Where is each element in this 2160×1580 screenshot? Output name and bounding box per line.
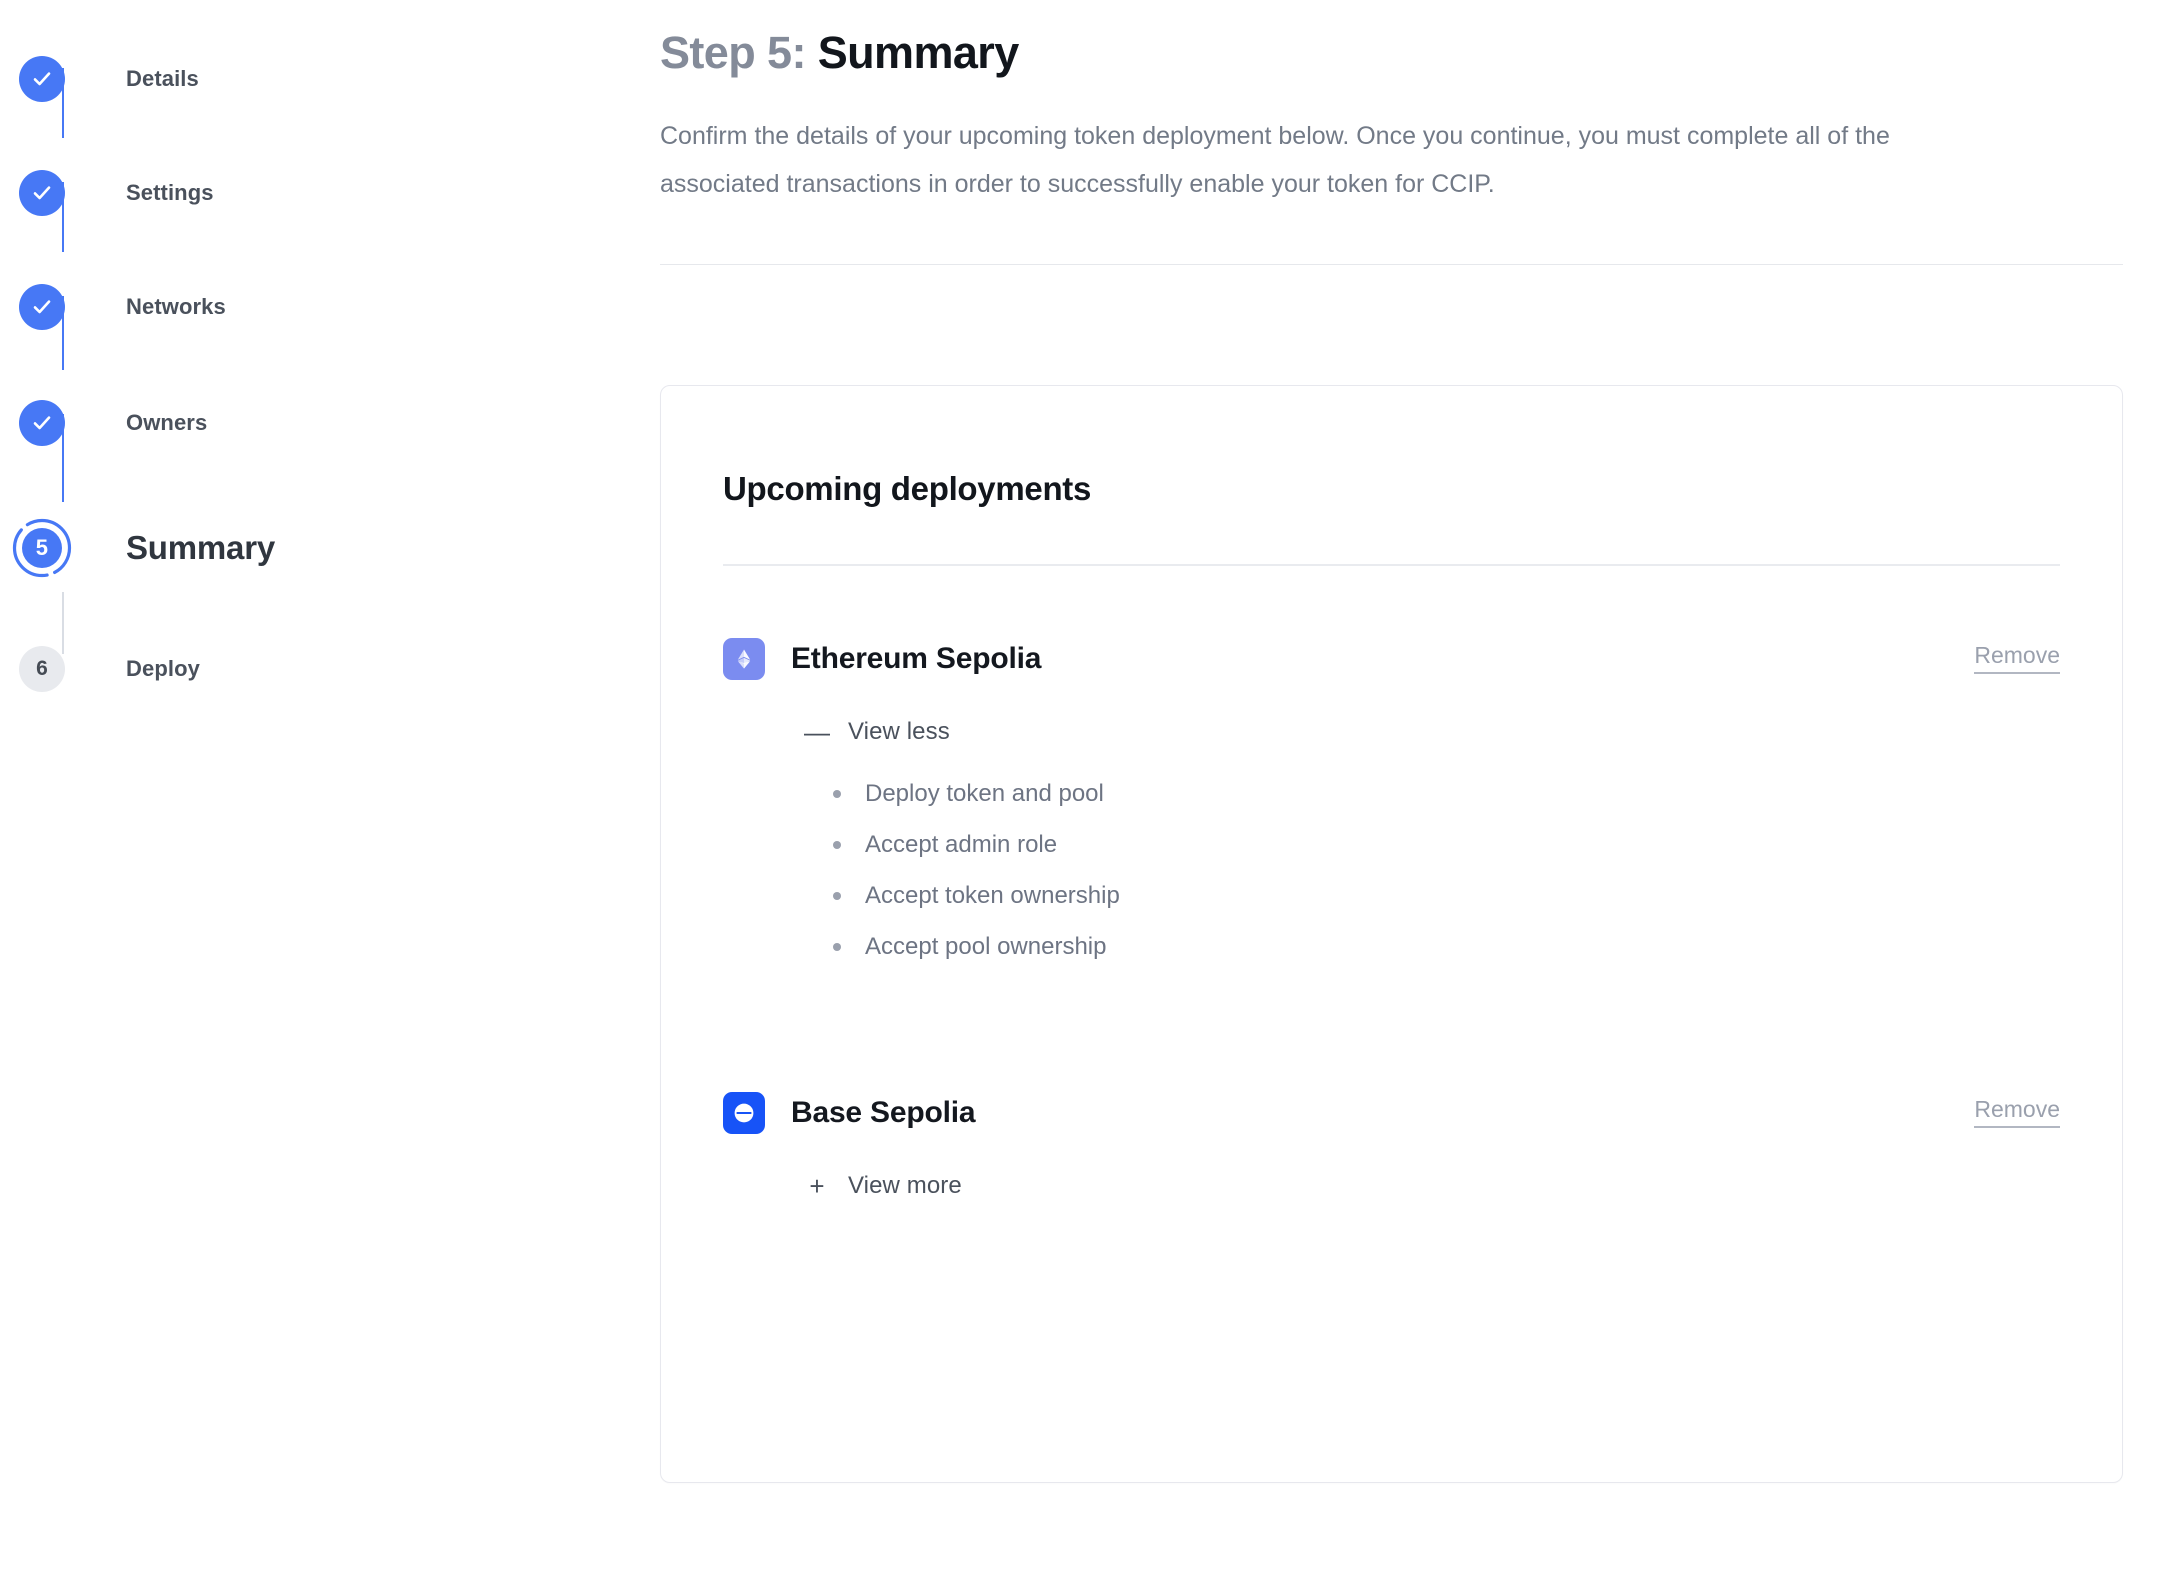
sidebar-item-label: Details — [126, 66, 199, 92]
task-label: Accept admin role — [865, 829, 1057, 860]
check-icon — [19, 170, 65, 216]
bullet-icon — [833, 790, 841, 798]
check-icon — [19, 400, 65, 446]
ethereum-icon — [723, 638, 765, 680]
sidebar-item-label: Summary — [126, 529, 275, 567]
deployment-task-list: Deploy token and pool Accept admin role … — [723, 778, 2060, 963]
upcoming-deployments-card: Upcoming deployments — [660, 385, 2123, 1483]
deployment-row: Ethereum Sepolia Remove — View less Depl… — [723, 566, 2060, 963]
toggle-label: View more — [848, 1172, 962, 1200]
step-marker-details — [0, 56, 84, 102]
header-divider — [660, 264, 2123, 265]
token-deployment-wizard: Details Settings Networks — [0, 0, 2160, 1580]
page-title: Step 5: Summary — [660, 28, 2120, 78]
deployment-header: Base Sepolia Remove — [723, 1092, 2060, 1134]
sidebar-item-label: Settings — [126, 180, 214, 206]
sidebar-item-details[interactable]: Details — [0, 22, 660, 136]
list-item: Deploy token and pool — [833, 778, 2060, 809]
page-title-step-prefix: Step 5: — [660, 27, 806, 78]
card-title: Upcoming deployments — [723, 470, 2060, 508]
toggle-label: View less — [848, 718, 950, 746]
sidebar-item-networks[interactable]: Networks — [0, 250, 660, 364]
step-number: 5 — [22, 528, 62, 568]
list-item: Accept admin role — [833, 829, 2060, 860]
base-icon — [723, 1092, 765, 1134]
deployment-header: Ethereum Sepolia Remove — [723, 638, 2060, 680]
step-number: 6 — [19, 646, 65, 692]
task-label: Accept pool ownership — [865, 931, 1106, 962]
step-marker-settings — [0, 170, 84, 216]
wizard-stepper: Details Settings Networks — [0, 0, 660, 1580]
deployment-row: Base Sepolia Remove + View more — [723, 1020, 2060, 1200]
check-icon — [19, 284, 65, 330]
sidebar-item-label: Owners — [126, 410, 207, 436]
bullet-icon — [833, 841, 841, 849]
plus-icon: + — [804, 1173, 830, 1199]
sidebar-item-summary[interactable]: 5 Summary — [0, 482, 660, 614]
task-label: Deploy token and pool — [865, 778, 1104, 809]
page-description: Confirm the details of your upcoming tok… — [660, 112, 1950, 208]
step-marker-deploy: 6 — [0, 646, 84, 692]
list-item: Accept token ownership — [833, 880, 2060, 911]
bullet-icon — [833, 892, 841, 900]
chain-name: Ethereum Sepolia — [791, 642, 1041, 676]
view-more-toggle[interactable]: + View more — [804, 1172, 962, 1200]
step-marker-networks — [0, 284, 84, 330]
remove-deployment-link[interactable]: Remove — [1974, 644, 2060, 674]
view-less-toggle[interactable]: — View less — [804, 718, 950, 746]
sidebar-item-deploy[interactable]: 6 Deploy — [0, 614, 660, 724]
sidebar-item-settings[interactable]: Settings — [0, 136, 660, 250]
step-marker-summary: 5 — [0, 528, 84, 568]
minus-icon: — — [804, 719, 830, 745]
step-marker-owners — [0, 400, 84, 446]
chain-name: Base Sepolia — [791, 1096, 975, 1130]
task-label: Accept token ownership — [865, 880, 1120, 911]
bullet-icon — [833, 943, 841, 951]
sidebar-item-label: Networks — [126, 294, 226, 320]
deployment-identity: Base Sepolia — [723, 1092, 975, 1134]
deployment-identity: Ethereum Sepolia — [723, 638, 1041, 680]
sidebar-item-label: Deploy — [126, 656, 200, 682]
page-title-text: Summary — [818, 27, 1019, 78]
check-icon — [19, 56, 65, 102]
sidebar-item-owners[interactable]: Owners — [0, 364, 660, 482]
deployment-spacer — [723, 962, 2060, 1020]
remove-deployment-link[interactable]: Remove — [1974, 1098, 2060, 1128]
list-item: Accept pool ownership — [833, 931, 2060, 962]
main-content: Step 5: Summary Confirm the details of y… — [660, 0, 2160, 1580]
